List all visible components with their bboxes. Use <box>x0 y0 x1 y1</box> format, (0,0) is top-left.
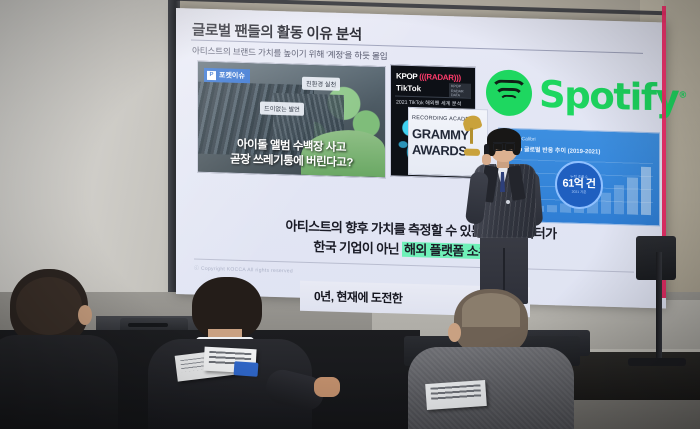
presenter-hand <box>482 154 491 165</box>
pa-speaker-stand <box>656 252 662 364</box>
smartphone <box>234 361 259 377</box>
news-tag-badge: P 포켓이슈 <box>204 68 250 83</box>
news-headline: 아이돌 앨범 수백장 사고 곧장 쓰레기통에 버린다고? <box>198 137 385 171</box>
room-wall-right <box>664 0 700 330</box>
spotify-trademark: ® <box>678 90 686 100</box>
kpop-radar-tiktok: TikTok <box>396 84 421 94</box>
presenter-glasses <box>493 142 515 149</box>
presenter-suit-button <box>506 200 510 204</box>
chart-value-badge: 누적 조회수 61억 건 2021 기준 <box>555 160 603 209</box>
slide-watermark: ⓒ Copyright KOCCA All rights reserved <box>194 265 293 275</box>
attendee-left <box>0 269 118 429</box>
chart-badge-bottom: 2021 기준 <box>572 191 587 195</box>
spotify-wordmark-text: Spotify <box>539 72 678 119</box>
slide-body-line2-pre: 한국 기업이 아닌 <box>313 239 402 257</box>
kpop-radar-chip: KPOP RADAR DATA <box>449 83 471 98</box>
slide-subtitle: 아티스트의 브랜드 가치를 높이기 위해 '계정'을 하듯 몰입 <box>192 44 387 62</box>
projection-screen: 글로벌 팬들의 활동 이유 분석 아티스트의 브랜드 가치를 높이기 위해 '계… <box>176 8 666 309</box>
lower-banner-text: 0년, 현재에 도전한 <box>314 287 402 306</box>
news-thumbnail-card: P 포켓이슈 친환경 실천 드이없는 발언 아이돌 앨범 수백장 사고 곧장 쓰… <box>197 61 386 179</box>
kpop-radar-caption: 2021 TikTok 해외팬 세계 분석 <box>396 99 461 108</box>
kpop-radar-title: KPOP (((RADAR))) <box>396 72 461 83</box>
pa-speaker-base <box>628 358 686 366</box>
spotify-logo: Spotify® <box>486 69 686 121</box>
handout-right <box>425 380 487 410</box>
chart-badge-value: 61억 건 <box>562 179 595 191</box>
news-tag-label: 포켓이슈 <box>219 70 245 81</box>
kpop-radar-title-accent: (((RADAR))) <box>419 72 461 82</box>
news-badge-icon: P <box>207 70 216 79</box>
grammy-line3: AWARDS <box>412 142 467 159</box>
screenshot-root: 글로벌 팬들의 활동 이유 분석 아티스트의 브랜드 가치를 높이기 위해 '계… <box>0 0 700 429</box>
news-bubble-1: 친환경 실천 <box>302 77 340 91</box>
presenter <box>462 128 554 304</box>
room-wall-left <box>0 0 176 300</box>
news-bubble-2: 드이없는 발언 <box>260 101 304 115</box>
spotify-icon <box>486 69 532 116</box>
presentation-slide: 글로벌 팬들의 활동 이유 분석 아티스트의 브랜드 가치를 높이기 위해 '계… <box>176 8 666 309</box>
kpop-radar-title-main: KPOP <box>396 72 417 82</box>
